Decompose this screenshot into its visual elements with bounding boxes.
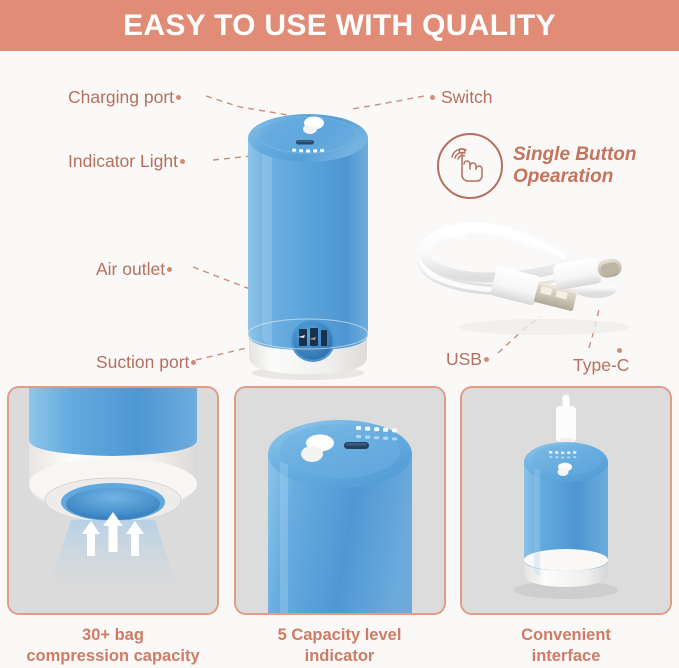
callout-suction-port: Suction port [96,354,198,372]
card-photo-device-top [234,386,446,615]
callout-dot [191,360,196,365]
badge-line-2: Opearation [513,166,636,188]
feature-card-capacity-indicator: 5 Capacity level indicator [234,386,446,668]
callout-label: Switch [441,87,493,107]
infographic-page: EASY TO USE WITH QUALITY [0,0,679,668]
suction-port-shape [291,320,335,362]
card-photo-device-with-cable [460,386,672,615]
callout-indicator-light: Indicator Light [68,153,187,171]
header-banner: EASY TO USE WITH QUALITY [0,0,679,51]
hero-section: Charging port Indicator Light Air outlet… [0,51,679,381]
badge-text: Single Button Opearation [513,144,636,189]
callout-dot [430,95,435,100]
badge-line-1: Single Button [513,144,636,166]
callout-label: Indicator Light [68,151,178,171]
callout-label: Air outlet [96,259,165,279]
card-caption: 30+ bag compression capacity [26,625,199,666]
callout-dot [180,159,185,164]
product-device-illustration [232,91,384,381]
usb-type-c-cable-illustration [414,199,664,344]
card-photo-suction-base [7,386,219,615]
callout-switch: Switch [430,89,493,107]
card-caption: 5 Capacity level indicator [278,625,402,666]
page-title: EASY TO USE WITH QUALITY [123,9,556,43]
callout-usb: USB [446,351,491,369]
single-button-operation-badge: Single Button Opearation [437,127,659,205]
callout-label: Suction port [96,352,189,372]
card-caption: Convenient interface [521,625,611,666]
touch-gesture-icon [437,133,503,199]
callout-dot [167,267,172,272]
callout-dot [484,357,489,362]
callout-air-outlet: Air outlet [96,261,174,279]
callout-label: Charging port [68,87,174,107]
feature-card-bag-compression: 30+ bag compression capacity [7,386,219,668]
callout-label: USB [446,349,482,369]
callout-dot [176,95,181,100]
callout-charging-port: Charging port [68,89,183,107]
feature-card-convenient-interface: Convenient interface [460,386,672,668]
callout-dot [617,348,622,353]
feature-cards: 30+ bag compression capacity [0,386,679,668]
callout-type-c: Type-C [573,357,629,375]
callout-label: Type-C [573,355,629,375]
